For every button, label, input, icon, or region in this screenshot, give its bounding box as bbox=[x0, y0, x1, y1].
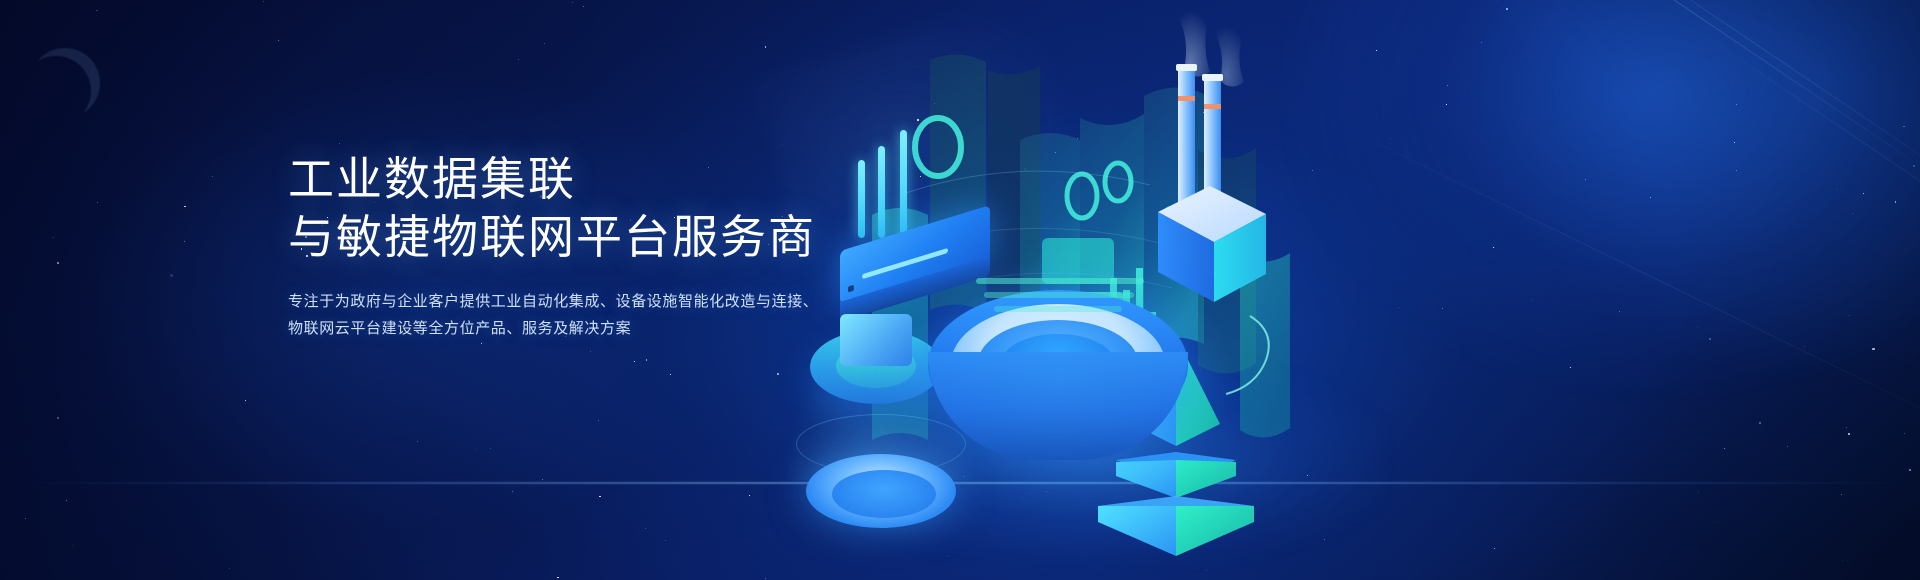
vignette-overlay bbox=[0, 0, 1920, 580]
hero-banner: 工业数据集联 与敏捷物联网平台服务商 专注于为政府与企业客户提供工业自动化集成、… bbox=[0, 0, 1920, 580]
